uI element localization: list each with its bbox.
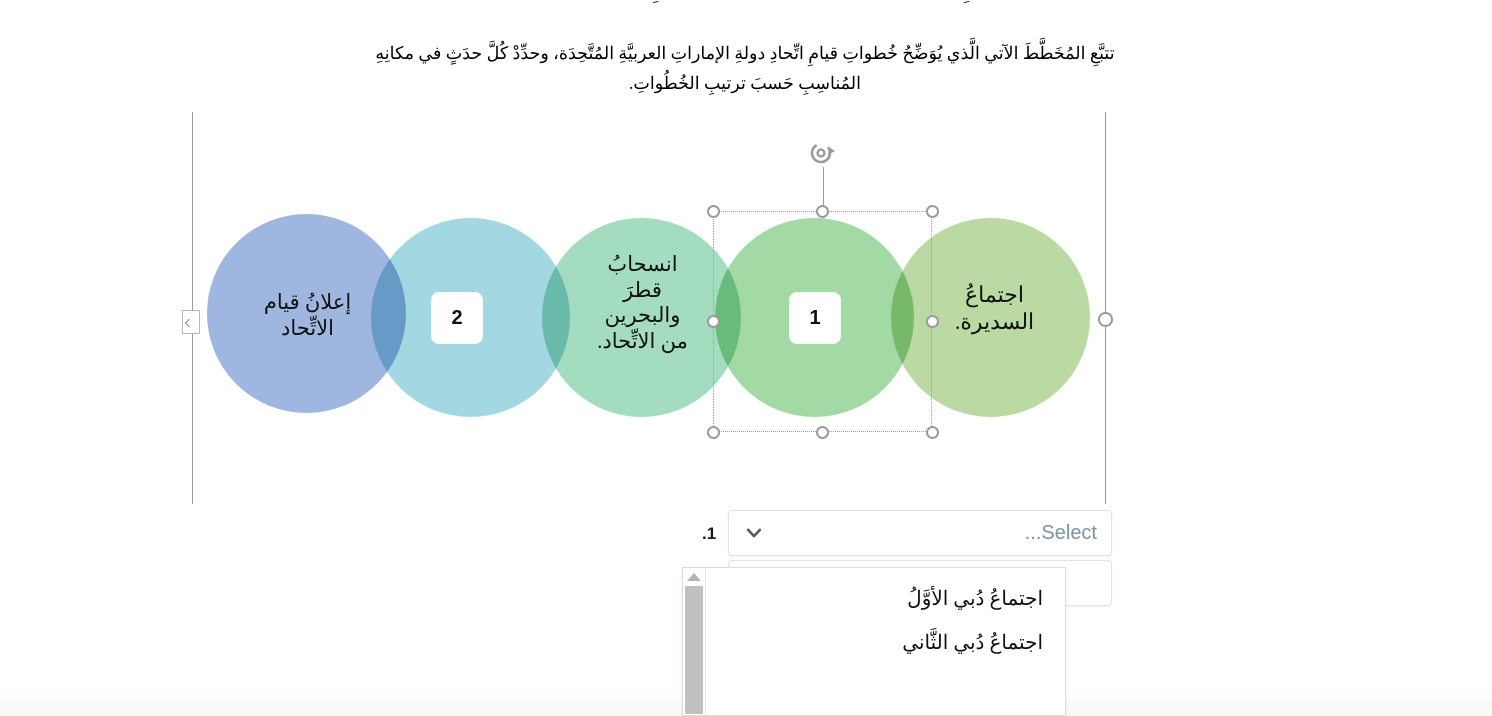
resize-handle-bottom-left[interactable] [707, 426, 720, 439]
resize-handle-middle-left[interactable] [707, 315, 720, 328]
answer-select-1-value: Select... [763, 522, 1097, 545]
dropdown-option[interactable]: اجتماعُ دُبي الأوَّلُ [716, 578, 1047, 622]
resize-handle-top-right[interactable] [926, 205, 939, 218]
canvas-right-resize-handle[interactable] [1098, 312, 1113, 327]
resize-handle-bottom-right[interactable] [926, 426, 939, 439]
rotate-icon[interactable] [807, 139, 839, 171]
dropdown-option-list: اجتماعُ دُبي الأوَّلُ اجتماعُ دُبي الثَّ… [706, 568, 1065, 715]
dropdown-scrollbar[interactable] [683, 568, 706, 716]
answer-row-1-number: .1 [694, 510, 728, 544]
canvas-left-border [192, 112, 193, 504]
scroll-up-arrow-icon[interactable] [687, 573, 701, 581]
diagram-canvas[interactable]: إعلانُ قيامالاتِّحاد انسحابُقطرَوالبحرين… [192, 112, 1106, 504]
dropdown-option[interactable]: اجتماعُ دُبي الثَّاني [716, 622, 1047, 666]
cut-off-header-line: تَتَبَّعِ المُخَطَّطَ الآتي الَّذي يُوَض… [0, 0, 1492, 8]
dropdown-scrollbar-thumb[interactable] [685, 586, 703, 714]
answer-select-2-dropdown[interactable]: اجتماعُ دُبي الأوَّلُ اجتماعُ دُبي الثَّ… [682, 567, 1066, 716]
answer-select-1[interactable]: Select... [728, 510, 1112, 556]
cut-off-header-text: تَتَبَّعِ المُخَطَّطَ الآتي الَّذي يُوَض… [350, 0, 1140, 1]
dropdown-option[interactable] [716, 666, 1047, 685]
question-prompt: تتبَّعِ المُخَطَّطَ الآتي الَّذي يُوَضِّ… [350, 38, 1140, 98]
answer-row-1: Select... .1 [682, 510, 1112, 556]
collapse-arrow-icon[interactable] [182, 310, 200, 334]
diagram-badge-2[interactable]: 2 [432, 293, 482, 343]
canvas-right-border [1105, 112, 1106, 504]
resize-handle-middle-right[interactable] [926, 315, 939, 328]
shape-selection-frame[interactable] [713, 211, 932, 432]
selection-outline [713, 211, 932, 432]
resize-handle-top-center[interactable] [816, 205, 829, 218]
chevron-down-icon[interactable] [745, 524, 763, 542]
page-root: تَتَبَّعِ المُخَطَّطَ الآتي الَّذي يُوَض… [0, 0, 1492, 716]
resize-handle-top-left[interactable] [707, 205, 720, 218]
resize-handle-bottom-center[interactable] [816, 426, 829, 439]
